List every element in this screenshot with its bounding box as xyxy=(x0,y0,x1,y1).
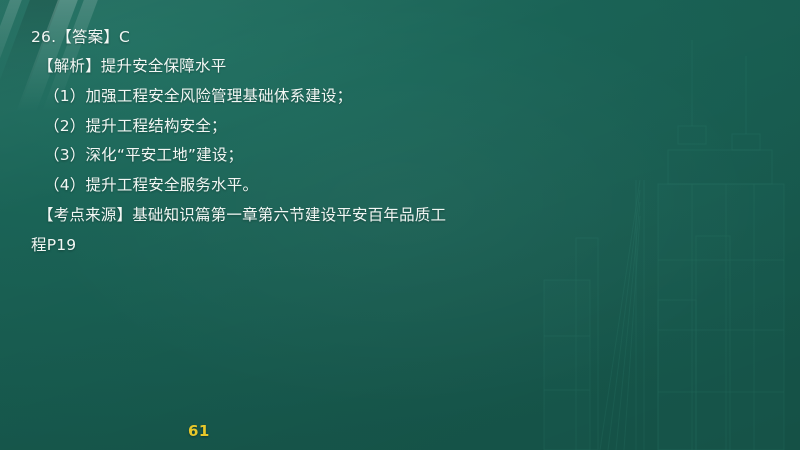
answer-line: 26.【答案】C xyxy=(31,30,130,46)
slide-canvas: 26.【答案】C 【解析】提升安全保障水平 （1）加强工程安全风险管理基础体系建… xyxy=(0,0,800,450)
analysis-item-4: （4）提升工程安全服务水平。 xyxy=(44,178,258,194)
source-reference-continued: 程P19 xyxy=(31,238,76,254)
analysis-item-1: （1）加强工程安全风险管理基础体系建设； xyxy=(44,89,352,105)
answer-explanation-body: 26.【答案】C 【解析】提升安全保障水平 （1）加强工程安全风险管理基础体系建… xyxy=(0,0,800,450)
source-reference: 【考点来源】基础知识篇第一章第六节建设平安百年品质工 xyxy=(38,208,446,224)
analysis-heading: 【解析】提升安全保障水平 xyxy=(38,59,226,75)
analysis-item-2: （2）提升工程结构安全； xyxy=(44,119,227,135)
page-number: 61 xyxy=(188,424,210,439)
analysis-item-3: （3）深化“平安工地”建设； xyxy=(44,148,243,164)
